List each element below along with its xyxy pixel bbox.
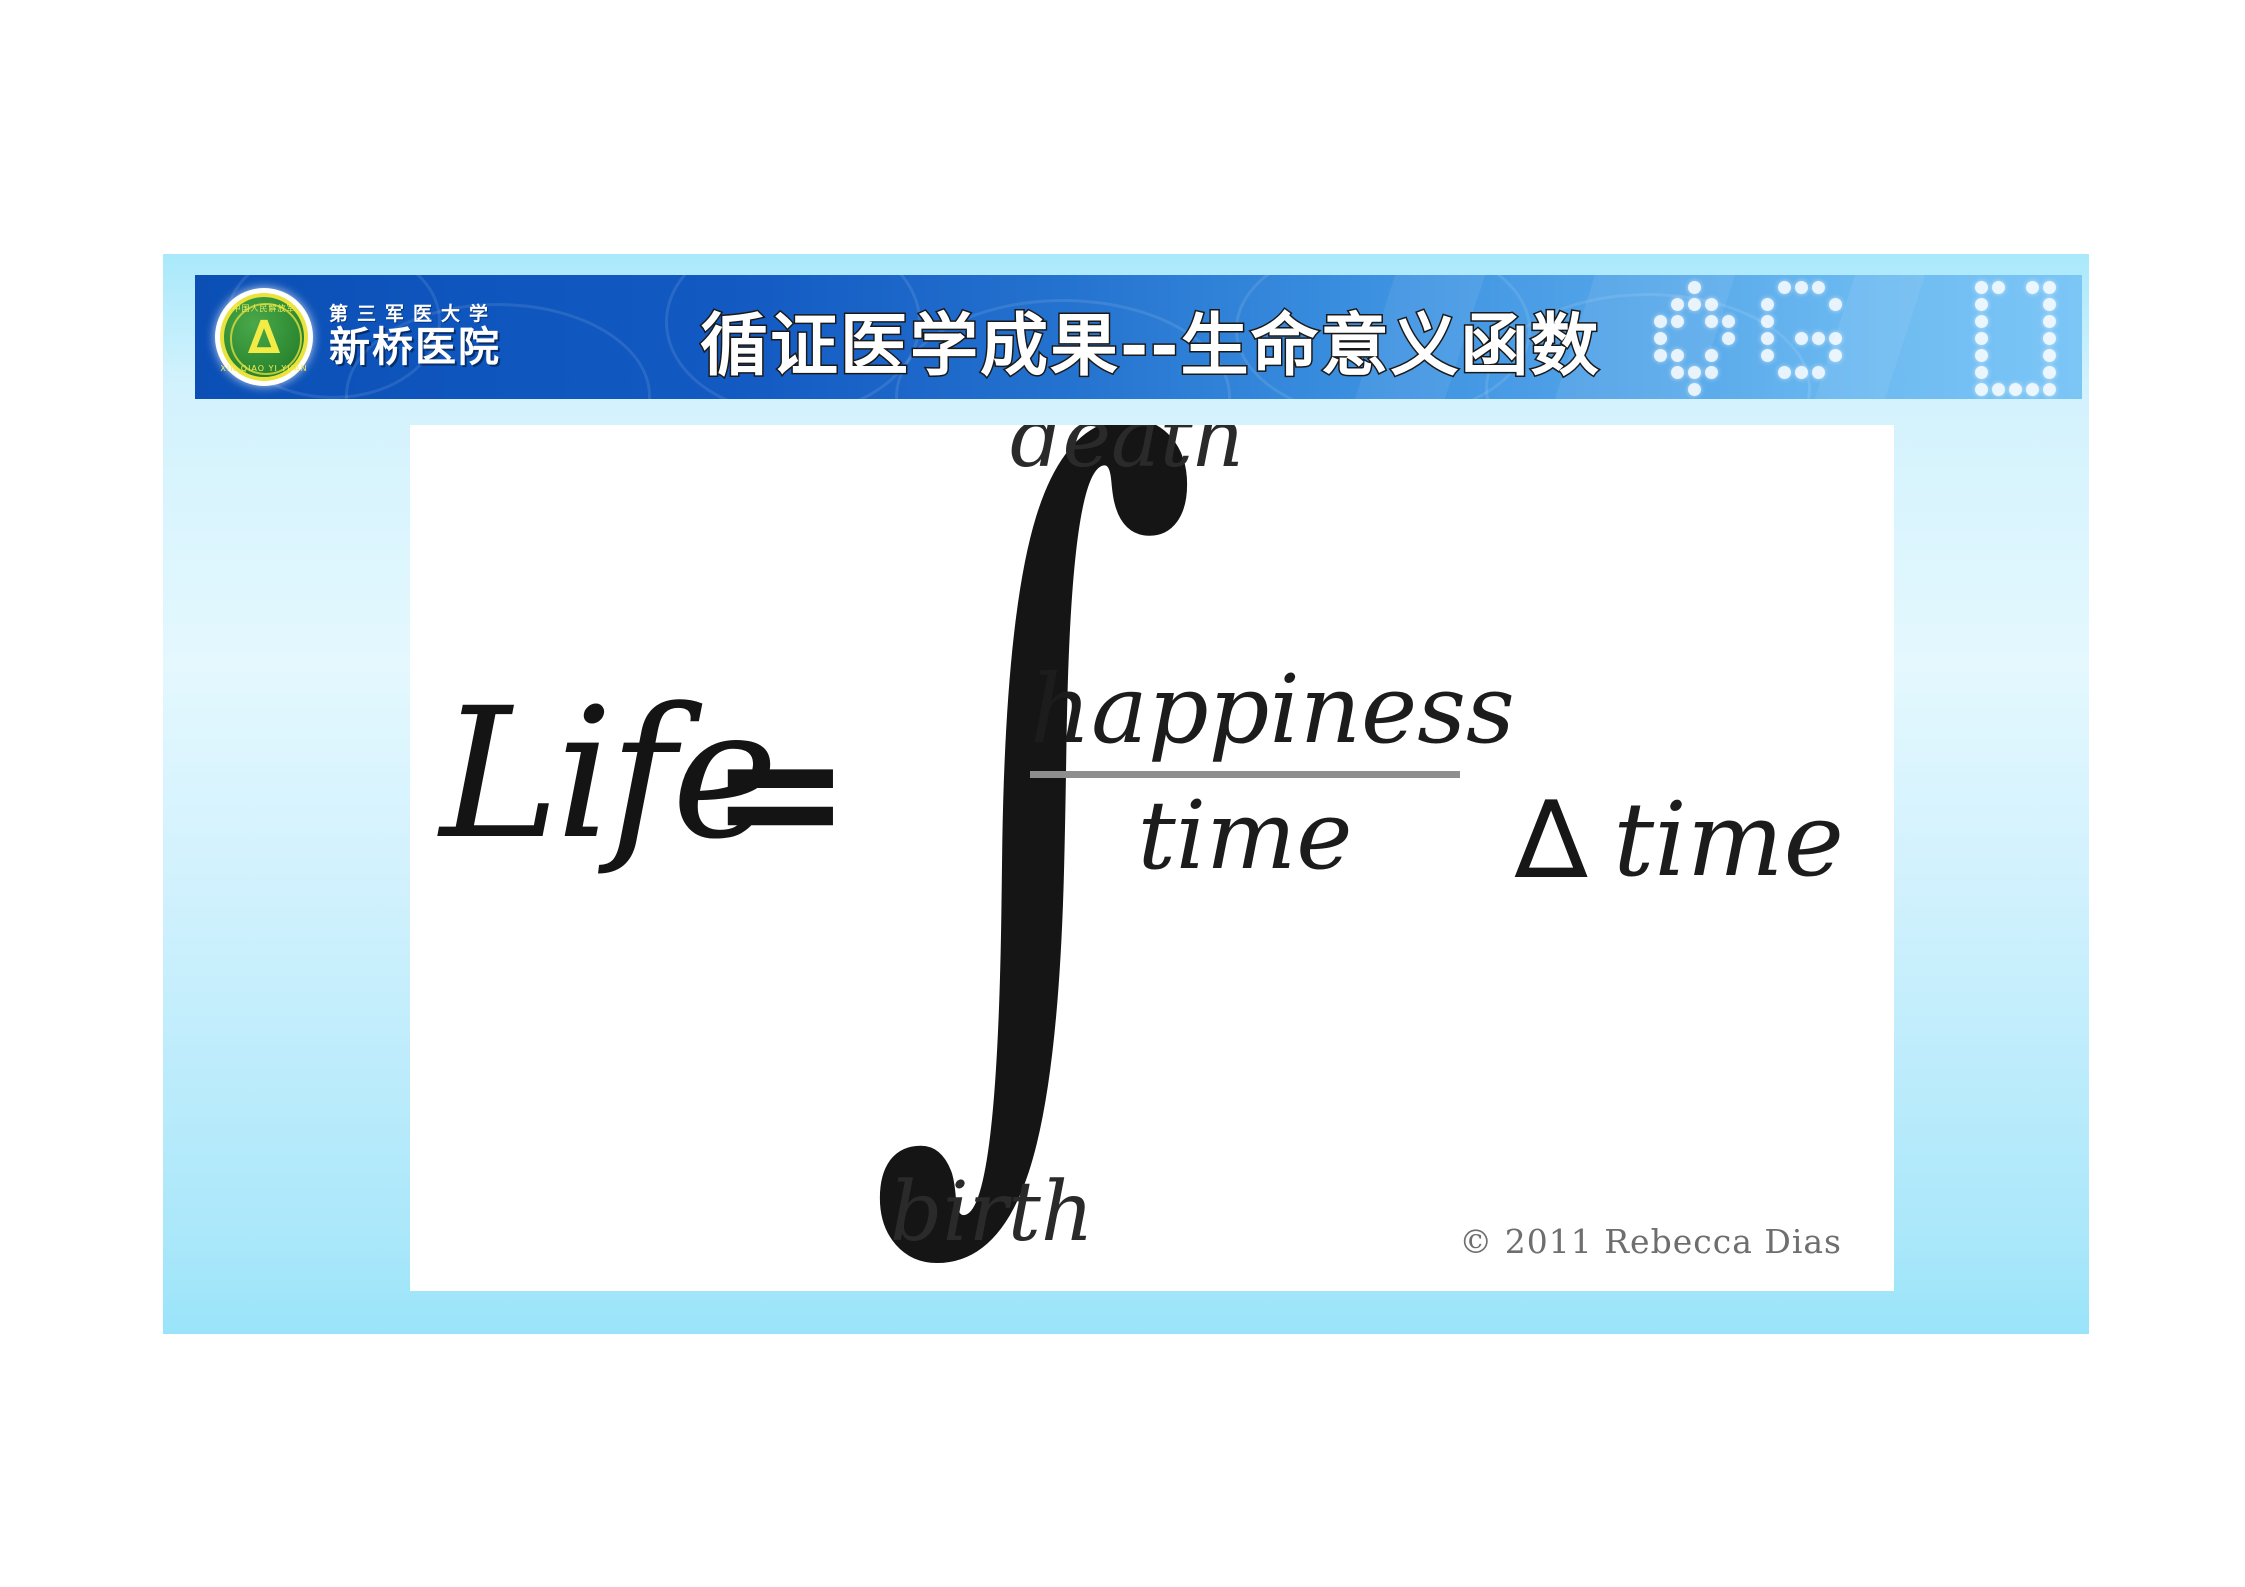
matrix-dot (1795, 366, 1808, 379)
equals-sign: = (710, 707, 851, 875)
matrix-dot (1761, 332, 1774, 345)
slide-title: 循证医学成果--生命意义函数 (700, 289, 1710, 389)
matrix-dot (1975, 366, 1988, 379)
hospital-logo: 中国人民解放军 ∆ XIN QIAO YI YUAN 第三军医大学 新桥医院 (215, 283, 545, 391)
hospital-logo-text: 第三军医大学 新桥医院 (329, 305, 501, 370)
seal-mark-icon: ∆ (215, 314, 313, 360)
matrix-dot (1829, 298, 1842, 311)
matrix-dot (1992, 383, 2005, 396)
matrix-dot (1761, 349, 1774, 362)
matrix-dot (1761, 298, 1774, 311)
matrix-dot (1778, 281, 1791, 294)
matrix-dot (1722, 315, 1735, 328)
delta-symbol-icon: ∆ (1515, 787, 1587, 895)
life-equation-image: Life = ∫ death birth happiness time ∆ ti… (410, 425, 1894, 1291)
fraction-numerator: happiness (1030, 660, 1460, 761)
equation-layout: Life = ∫ death birth happiness time ∆ ti… (410, 425, 1894, 1291)
matrix-dot (1795, 281, 1808, 294)
matrix-dot (1829, 349, 1842, 362)
matrix-dot (1812, 366, 1825, 379)
hospital-name: 新桥医院 (329, 326, 501, 369)
matrix-dot (1992, 281, 2005, 294)
matrix-dot (2043, 383, 2056, 396)
hospital-seal-emblem: 中国人民解放军 ∆ XIN QIAO YI YUAN (215, 288, 313, 386)
matrix-dot (2043, 349, 2056, 362)
matrix-dot (1975, 332, 1988, 345)
fraction-denominator: time (1030, 786, 1460, 887)
delta-time-term: ∆ time (1515, 787, 1844, 895)
integral-lower-limit: birth (890, 1165, 1094, 1260)
matrix-dot (2043, 281, 2056, 294)
matrix-dot (1812, 281, 1825, 294)
university-name: 第三军医大学 (329, 305, 501, 325)
matrix-dot (1812, 332, 1825, 345)
matrix-dot (1722, 332, 1735, 345)
matrix-dot (2043, 332, 2056, 345)
matrix-dot (2009, 383, 2022, 396)
matrix-dot (1778, 366, 1791, 379)
happiness-over-time-fraction: happiness time (1030, 660, 1460, 886)
matrix-dot (1975, 383, 1988, 396)
matrix-dot (1975, 298, 1988, 311)
fraction-bar (1030, 771, 1460, 778)
slide-canvas: 中国人民解放军 ∆ XIN QIAO YI YUAN 第三军医大学 新桥医院 循… (0, 0, 2245, 1587)
matrix-dot (1829, 332, 1842, 345)
seal-bottom-text: XIN QIAO YI YUAN (215, 364, 313, 373)
matrix-dot (1975, 349, 1988, 362)
matrix-dot (1975, 281, 1988, 294)
matrix-dot (1795, 332, 1808, 345)
copyright-notice: © 2011 Rebecca Dias (1459, 1222, 1842, 1261)
dot-matrix-pattern (1654, 281, 2074, 393)
delta-time-label: time (1613, 790, 1844, 892)
matrix-dot (2026, 383, 2039, 396)
integral-upper-limit: death (1010, 425, 1246, 486)
matrix-dot (2043, 366, 2056, 379)
matrix-dot (1975, 315, 1988, 328)
matrix-dot (1761, 315, 1774, 328)
matrix-dot (2043, 315, 2056, 328)
matrix-dot (2026, 281, 2039, 294)
matrix-dot (2043, 298, 2056, 311)
